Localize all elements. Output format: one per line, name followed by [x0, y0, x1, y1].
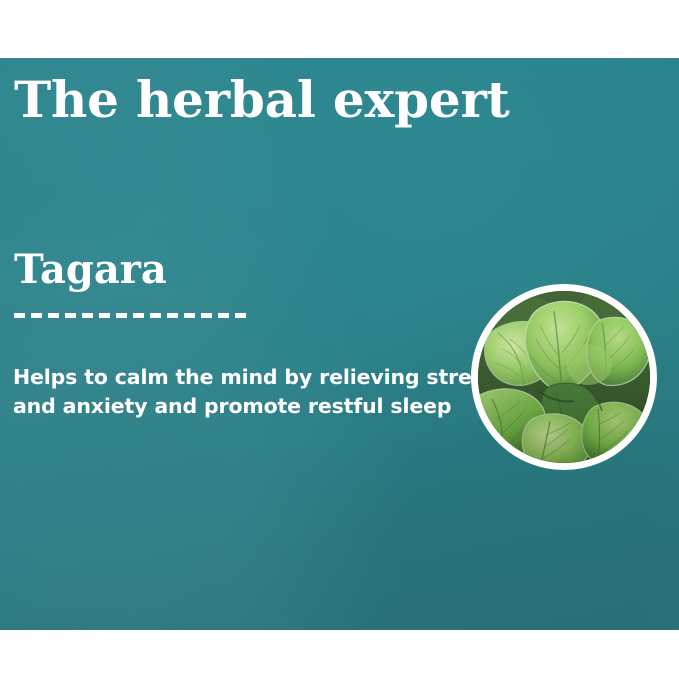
herb-description-line-1: Helps to calm the mind by relieving stre…: [13, 363, 453, 392]
herb-photo-image: [478, 291, 650, 463]
herb-name-heading: Tagara: [14, 248, 167, 292]
herb-description: Helps to calm the mind by relieving stre…: [13, 363, 453, 421]
herb-description-line-2: and anxiety and promote restful sleep: [13, 392, 453, 421]
page-title: The herbal expert: [14, 72, 509, 128]
herb-photo-circle: [471, 284, 657, 470]
dashed-divider: [14, 313, 249, 318]
herbal-expert-card: The herbal expert Tagara Helps to calm t…: [0, 0, 679, 679]
